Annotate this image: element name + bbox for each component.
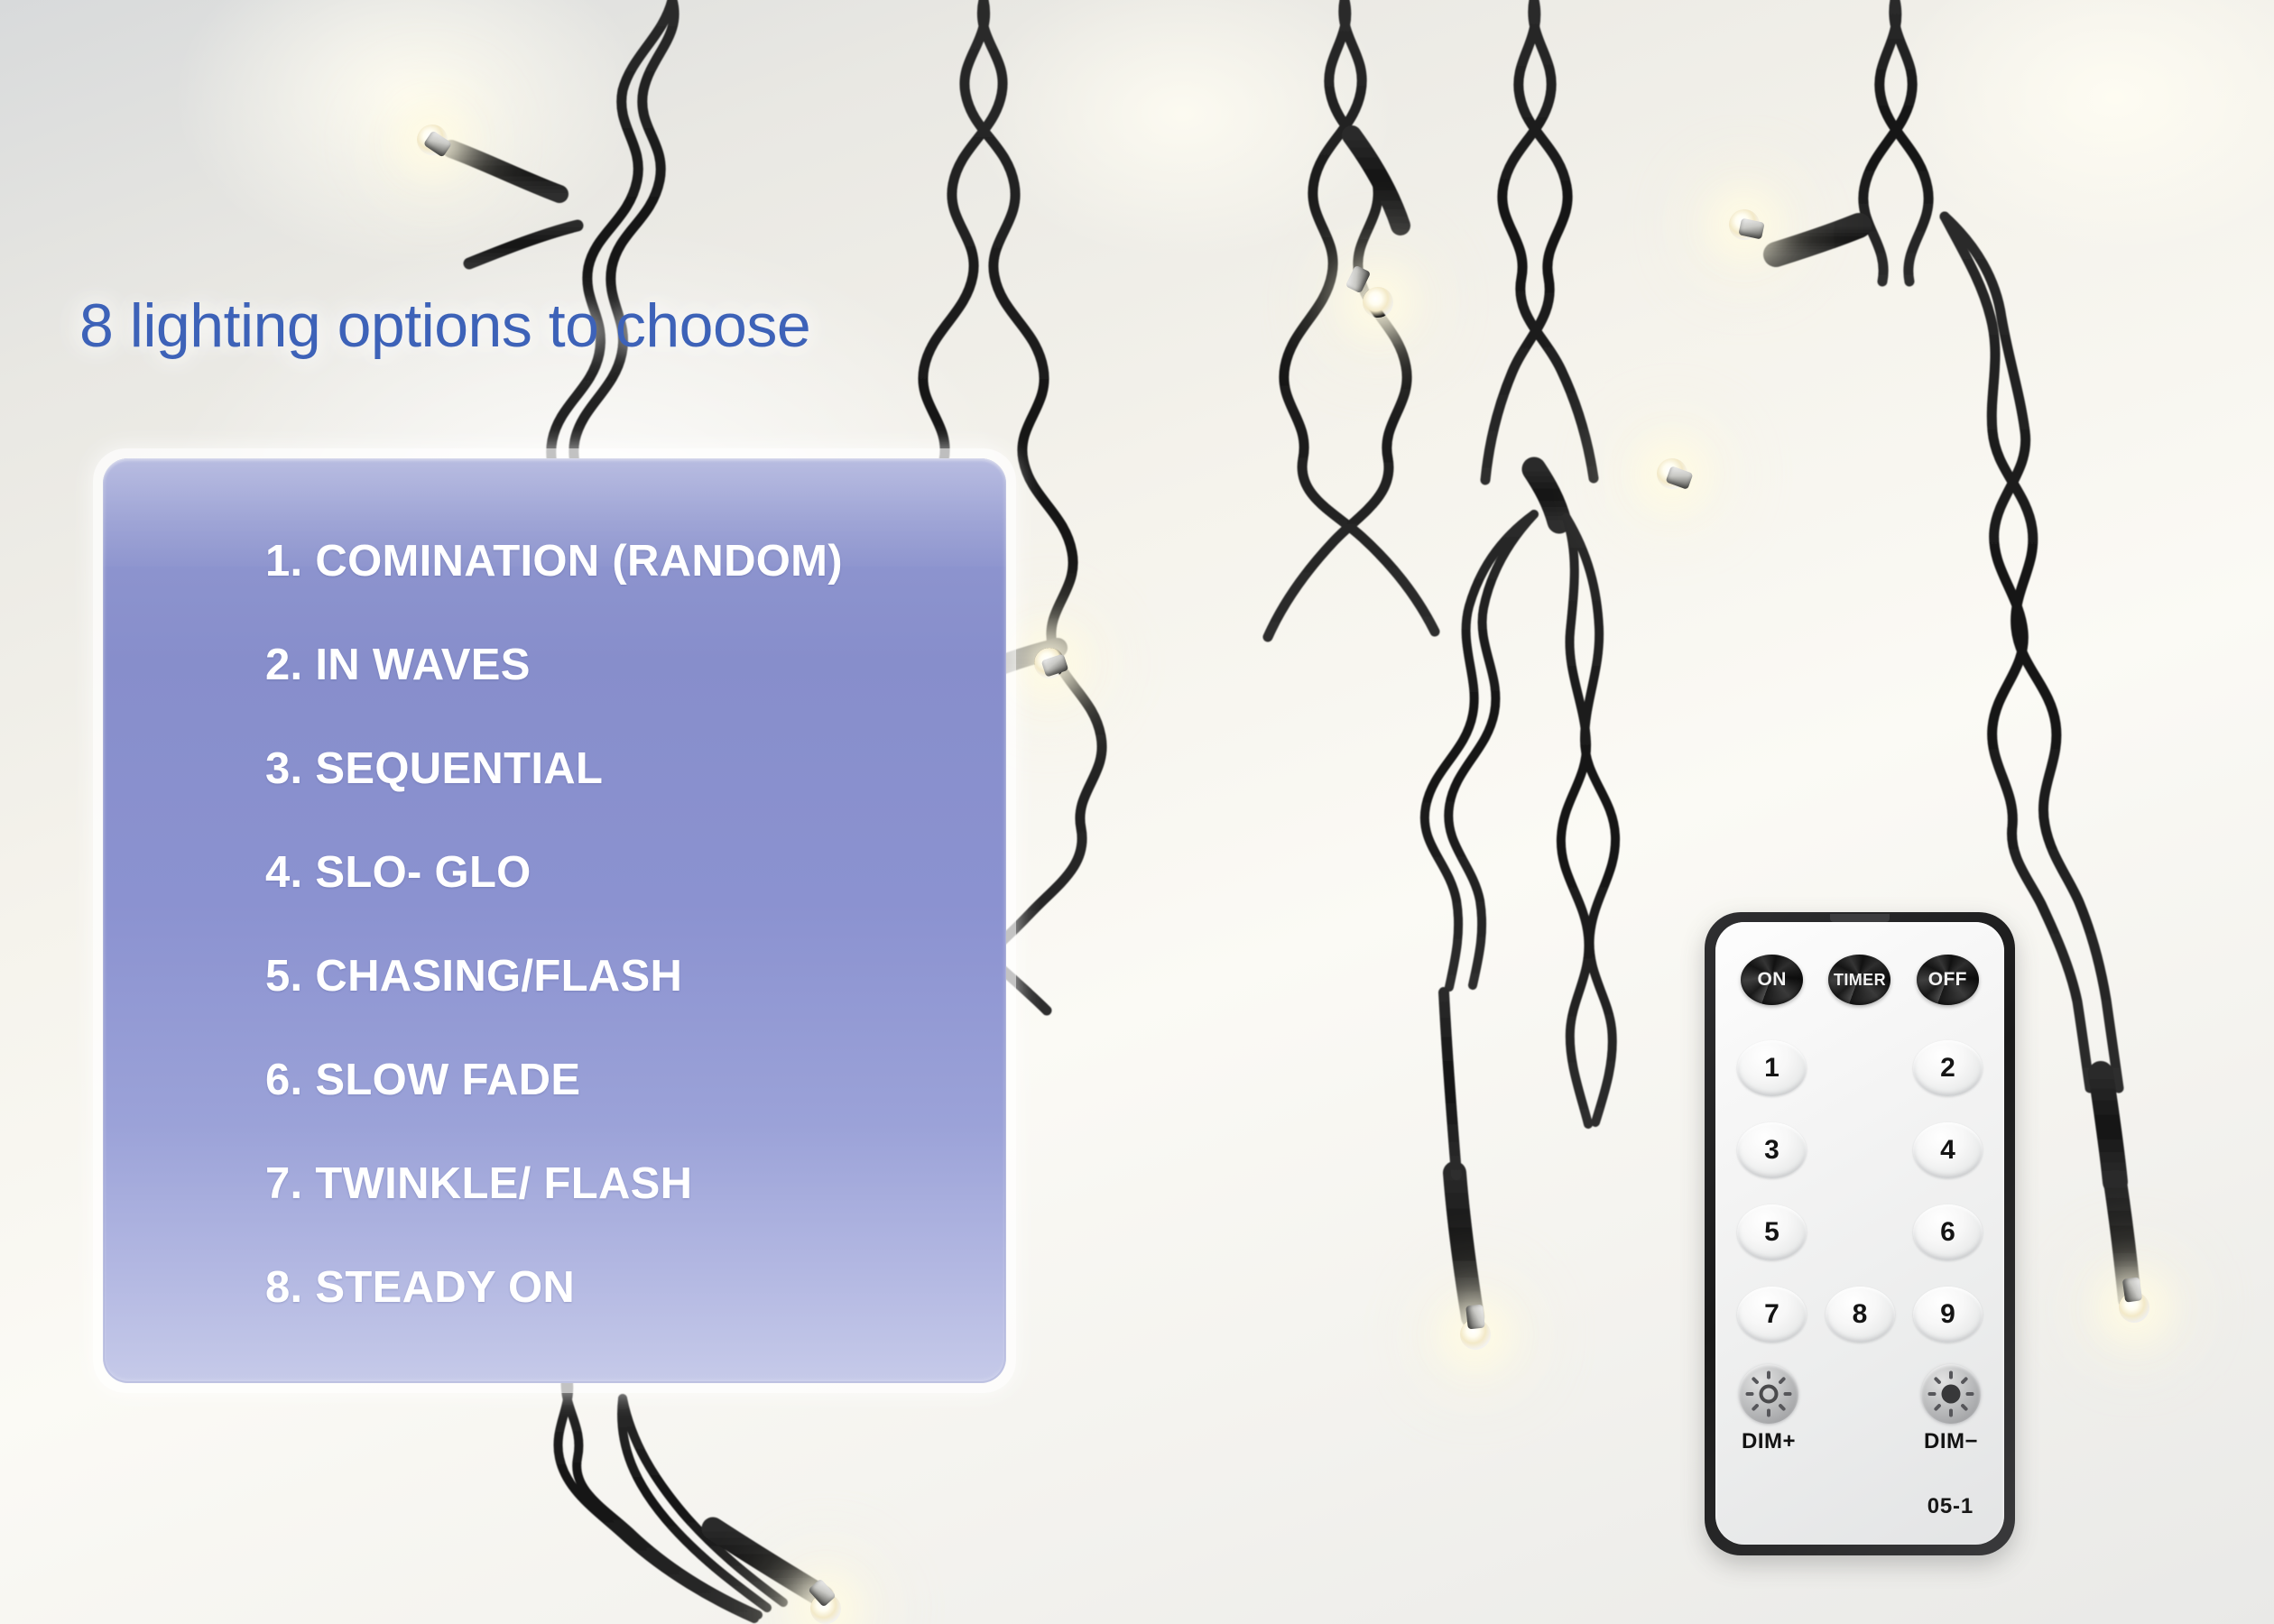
key-9[interactable]: 9 [1913, 1287, 1983, 1343]
option-label: 7. TWINKLE/ FLASH [265, 1158, 692, 1209]
option-label: 3. SEQUENTIAL [265, 743, 603, 794]
key-6[interactable]: 6 [1913, 1204, 1983, 1260]
dim-down-label: DIM− [1924, 1429, 1978, 1454]
key-6-label: 6 [1940, 1217, 1955, 1248]
dim-down-button[interactable] [1921, 1364, 1981, 1424]
on-button-label: ON [1758, 969, 1787, 991]
page-title: 8 lighting options to choose [79, 291, 810, 361]
keypad-row: 3 4 [1737, 1109, 1983, 1191]
keypad-row: 7 8 9 [1737, 1273, 1983, 1355]
key-2-label: 2 [1940, 1053, 1955, 1084]
remote-dim-row: DIM+ DIM− [1715, 1364, 2004, 1454]
dim-up-label: DIM+ [1742, 1429, 1796, 1454]
remote-model-label: 05-1 [1927, 1494, 1974, 1519]
key-7-label: 7 [1764, 1299, 1779, 1330]
option-label: 1. COMINATION (RANDOM) [265, 536, 843, 586]
key-9-label: 9 [1940, 1299, 1955, 1330]
lighting-options-panel: 1. COMINATION (RANDOM) 2. IN WAVES 3. SE… [93, 448, 1016, 1393]
list-item: 3. SEQUENTIAL [103, 716, 1006, 820]
key-8[interactable]: 8 [1826, 1287, 1895, 1343]
keypad-row: 1 2 [1737, 1027, 1983, 1109]
key-5-label: 5 [1764, 1217, 1779, 1248]
key-8-label: 8 [1853, 1299, 1868, 1330]
list-item: 4. SLO- GLO [103, 820, 1006, 924]
timer-button[interactable]: TIMER [1828, 955, 1890, 1005]
list-item: 5. CHASING/FLASH [103, 924, 1006, 1028]
key-7[interactable]: 7 [1737, 1287, 1807, 1343]
brightness-down-icon [1942, 1385, 1961, 1404]
remote-keypad: 1 2 3 4 5 [1715, 1027, 2004, 1355]
key-4[interactable]: 4 [1913, 1122, 1983, 1178]
keypad-row: 5 6 [1737, 1191, 1983, 1273]
led-bulb-cap [1465, 1305, 1485, 1330]
list-item: 6. SLOW FADE [103, 1028, 1006, 1131]
key-4-label: 4 [1940, 1135, 1955, 1166]
remote-control: ON TIMER OFF 1 2 [1705, 912, 2015, 1555]
list-item: 2. IN WAVES [103, 613, 1006, 716]
option-label: 5. CHASING/FLASH [265, 951, 682, 1001]
timer-button-label: TIMER [1834, 971, 1886, 990]
brightness-up-icon [1760, 1385, 1779, 1404]
ir-emitter-notch [1830, 914, 1890, 922]
dim-up-group: DIM+ [1739, 1364, 1798, 1454]
list-item: 7. TWINKLE/ FLASH [103, 1131, 1006, 1235]
option-label: 4. SLO- GLO [265, 847, 532, 898]
lighting-options-list: 1. COMINATION (RANDOM) 2. IN WAVES 3. SE… [103, 458, 1006, 1383]
off-button[interactable]: OFF [1917, 955, 1979, 1005]
option-label: 2. IN WAVES [265, 640, 531, 690]
remote-faceplate: ON TIMER OFF 1 2 [1715, 922, 2004, 1545]
off-button-label: OFF [1928, 969, 1967, 991]
option-label: 8. STEADY ON [265, 1262, 575, 1313]
on-button[interactable]: ON [1741, 955, 1803, 1005]
key-3-label: 3 [1764, 1135, 1779, 1166]
product-image-canvas: 8 lighting options to choose 1. COMINATI… [0, 0, 2274, 1624]
dim-down-group: DIM− [1921, 1364, 1981, 1454]
dim-up-button[interactable] [1739, 1364, 1798, 1424]
remote-power-row: ON TIMER OFF [1715, 955, 2004, 1005]
led-bulb-cap [2122, 1277, 2142, 1302]
key-3[interactable]: 3 [1737, 1122, 1807, 1178]
list-item: 1. COMINATION (RANDOM) [103, 509, 1006, 613]
key-1-label: 1 [1764, 1053, 1779, 1084]
key-5[interactable]: 5 [1737, 1204, 1807, 1260]
key-1[interactable]: 1 [1737, 1040, 1807, 1096]
key-2[interactable]: 2 [1913, 1040, 1983, 1096]
option-label: 6. SLOW FADE [265, 1055, 580, 1105]
list-item: 8. STEADY ON [103, 1235, 1006, 1339]
